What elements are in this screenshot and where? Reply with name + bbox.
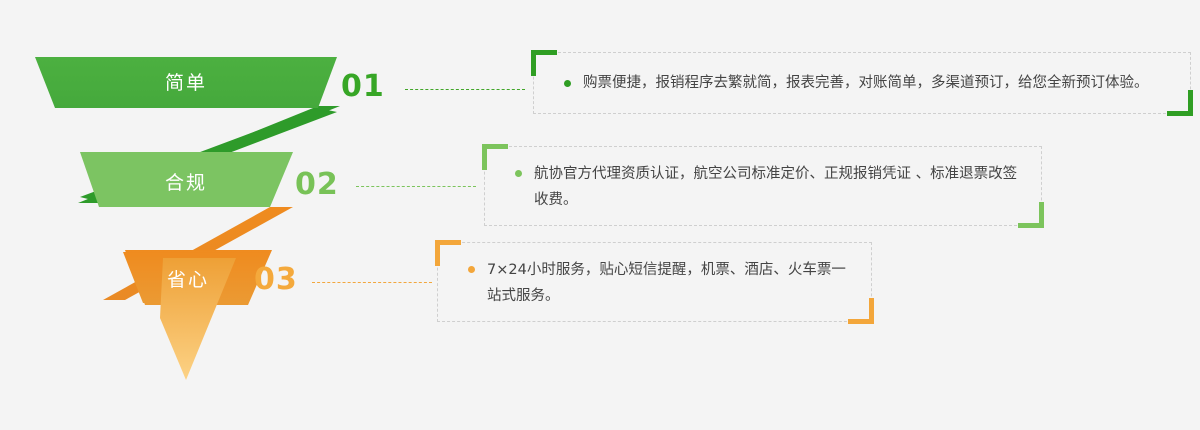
info-panel-2-body: 航协官方代理资质认证，航空公司标准定价、正规报销凭证 、标准退票改签收费。	[515, 147, 1025, 239]
funnel-band-label-1: 简单	[165, 68, 207, 95]
corner-bracket-top-left-icon	[531, 50, 557, 76]
info-panel-2-text: 航协官方代理资质认证，航空公司标准定价、正规报销凭证 、标准退票改签收费。	[534, 161, 1025, 213]
connector-line-2	[356, 186, 476, 187]
info-panel-3-body: 7×24小时服务，贴心短信提醒，机票、酒店、火车票一站式服务。	[468, 243, 855, 335]
infographic-stage: 简单 合规 省心 01 02 03 购票便捷，报销程序去繁就简，报表完善，对账简…	[0, 0, 1200, 430]
funnel-band-label-2: 合规	[165, 168, 207, 195]
info-panel-3: 7×24小时服务，贴心短信提醒，机票、酒店、火车票一站式服务。	[437, 242, 872, 322]
connector-line-1	[405, 89, 525, 90]
bullet-dot-icon	[564, 80, 571, 87]
step-number-01: 01	[341, 69, 385, 104]
corner-bracket-top-left-icon	[435, 240, 461, 266]
info-panel-1-text: 购票便捷，报销程序去繁就简，报表完善，对账简单，多渠道预订，给您全新预订体验。	[583, 70, 1149, 96]
funnel-band-label-3: 省心	[167, 265, 209, 292]
bullet-dot-icon	[515, 170, 522, 177]
info-panel-2: 航协官方代理资质认证，航空公司标准定价、正规报销凭证 、标准退票改签收费。	[484, 146, 1042, 226]
corner-bracket-top-left-icon	[482, 144, 508, 170]
info-panel-1-body: 购票便捷，报销程序去繁就简，报表完善，对账简单，多渠道预订，给您全新预订体验。	[564, 53, 1174, 113]
info-panel-1: 购票便捷，报销程序去繁就简，报表完善，对账简单，多渠道预订，给您全新预订体验。	[533, 52, 1191, 114]
funnel-ribbon-graphic	[0, 0, 420, 430]
step-number-03: 03	[254, 262, 298, 297]
bullet-dot-icon	[468, 266, 475, 273]
info-panel-3-text: 7×24小时服务，贴心短信提醒，机票、酒店、火车票一站式服务。	[487, 257, 855, 309]
connector-line-3	[312, 282, 432, 283]
step-number-02: 02	[295, 167, 339, 202]
